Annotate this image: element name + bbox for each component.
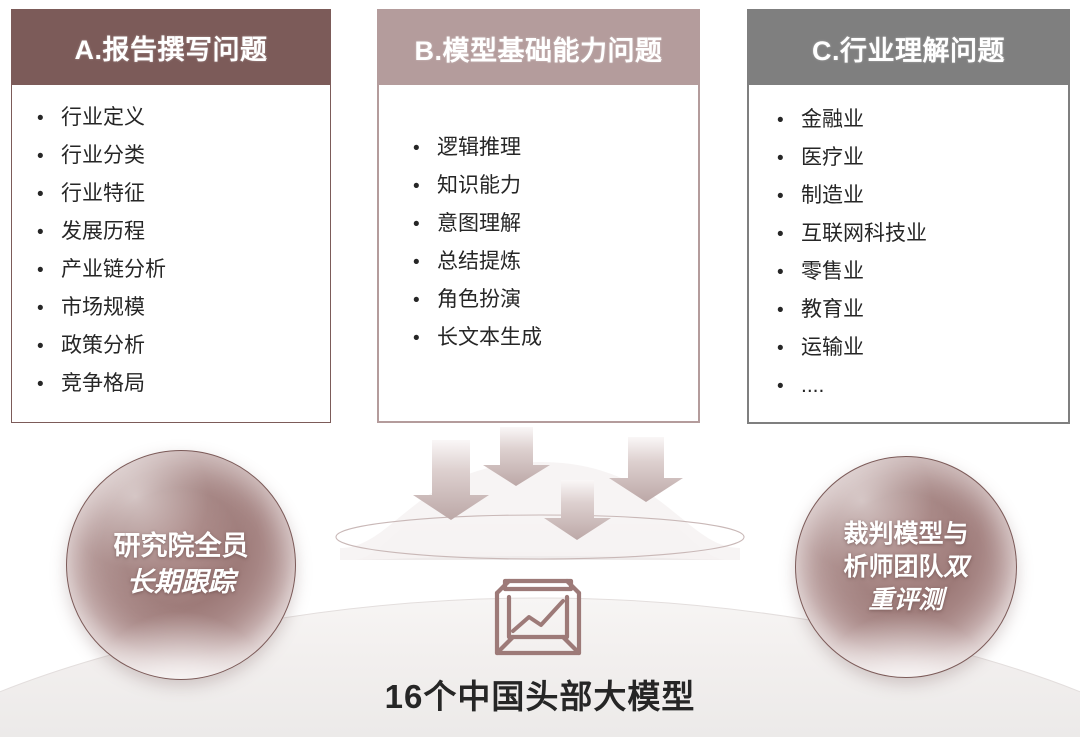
- bullet-icon: •: [413, 320, 437, 358]
- bullet-icon: •: [777, 292, 801, 330]
- sphere-right-line3: 重评测: [868, 584, 943, 617]
- category-b-body: •逻辑推理 •知识能力 •意图理解 •总结提炼 •角色扮演 •长文本生成: [379, 85, 698, 421]
- bullet-icon: •: [37, 176, 61, 214]
- bullet-icon: •: [37, 214, 61, 252]
- list-item[interactable]: •制造业: [777, 177, 1068, 215]
- category-c-header: C.行业理解问题: [749, 11, 1068, 85]
- list-item[interactable]: •知识能力: [413, 167, 698, 205]
- bullet-icon: •: [777, 102, 801, 140]
- funnel-rim-fill: [336, 515, 744, 559]
- list-item[interactable]: •运输业: [777, 329, 1068, 367]
- list-item[interactable]: •....: [777, 367, 1068, 405]
- sphere-right-line2-b: 双: [944, 553, 969, 581]
- list-item[interactable]: •市场规模: [37, 289, 330, 327]
- list-item[interactable]: •医疗业: [777, 139, 1068, 177]
- funnel-arrow-1: [413, 440, 489, 520]
- list-item[interactable]: •互联网科技业: [777, 215, 1068, 253]
- bullet-icon: •: [413, 130, 437, 168]
- bullet-icon: •: [37, 252, 61, 290]
- list-item[interactable]: •行业分类: [37, 137, 330, 175]
- sphere-right-line2-a: 析师团队: [843, 553, 943, 581]
- list-item[interactable]: •长文本生成: [413, 319, 698, 357]
- category-c-body: •金融业 •医疗业 •制造业 •互联网科技业 •零售业 •教育业 •运输业 •.…: [749, 85, 1068, 422]
- sphere-left-research-team[interactable]: 研究院全员 长期跟踪: [66, 450, 296, 680]
- bullet-icon: •: [777, 216, 801, 254]
- bullet-icon: •: [777, 178, 801, 216]
- category-a-list: •行业定义 •行业分类 •行业特征 •发展历程 •产业链分析 •市场规模 •政策…: [37, 99, 330, 403]
- list-item[interactable]: •零售业: [777, 253, 1068, 291]
- bullet-icon: •: [37, 328, 61, 366]
- list-item[interactable]: •总结提炼: [413, 243, 698, 281]
- bullet-icon: •: [37, 100, 61, 138]
- bullet-icon: •: [413, 282, 437, 320]
- funnel-arrow-2: [483, 427, 550, 486]
- bullet-icon: •: [777, 368, 801, 406]
- list-item[interactable]: •竞争格局: [37, 365, 330, 403]
- list-item[interactable]: •政策分析: [37, 327, 330, 365]
- category-a-header: A.报告撰写问题: [12, 10, 330, 84]
- sphere-right-line1: 裁判模型与: [843, 518, 968, 551]
- category-b-header: B.模型基础能力问题: [379, 11, 698, 85]
- bullet-icon: •: [777, 140, 801, 178]
- funnel-arrow-4: [609, 437, 683, 502]
- funnel-arrow-3: [544, 480, 611, 540]
- funnel-mound-skirt: [340, 462, 740, 560]
- list-item[interactable]: •教育业: [777, 291, 1068, 329]
- bullet-icon: •: [777, 254, 801, 292]
- list-item[interactable]: •逻辑推理: [413, 129, 698, 167]
- chart-line: [513, 601, 563, 631]
- bullet-icon: •: [413, 206, 437, 244]
- list-item[interactable]: •产业链分析: [37, 251, 330, 289]
- category-c-list: •金融业 •医疗业 •制造业 •互联网科技业 •零售业 •教育业 •运输业 •.…: [777, 101, 1068, 405]
- bullet-icon: •: [777, 330, 801, 368]
- list-item[interactable]: •意图理解: [413, 205, 698, 243]
- list-item[interactable]: •角色扮演: [413, 281, 698, 319]
- list-item[interactable]: •行业特征: [37, 175, 330, 213]
- bullet-icon: •: [37, 366, 61, 404]
- list-item[interactable]: •发展历程: [37, 213, 330, 251]
- bullet-icon: •: [413, 244, 437, 282]
- category-a-body: •行业定义 •行业分类 •行业特征 •发展历程 •产业链分析 •市场规模 •政策…: [12, 84, 330, 422]
- bottom-caption: 16个中国头部大模型: [0, 670, 1080, 718]
- category-box-c[interactable]: C.行业理解问题 •金融业 •医疗业 •制造业 •互联网科技业 •零售业 •教育…: [747, 9, 1070, 424]
- category-box-a[interactable]: A.报告撰写问题 •行业定义 •行业分类 •行业特征 •发展历程 •产业链分析 …: [11, 9, 331, 423]
- category-b-list: •逻辑推理 •知识能力 •意图理解 •总结提炼 •角色扮演 •长文本生成: [413, 129, 698, 357]
- list-item[interactable]: •行业定义: [37, 99, 330, 137]
- box-chart-icon: [483, 563, 593, 663]
- funnel-rim-ellipse: [336, 515, 744, 559]
- bullet-icon: •: [413, 168, 437, 206]
- category-box-b[interactable]: B.模型基础能力问题 •逻辑推理 •知识能力 •意图理解 •总结提炼 •角色扮演…: [377, 9, 700, 423]
- sphere-left-line2: 长期跟踪: [127, 565, 235, 601]
- list-item[interactable]: •金融业: [777, 101, 1068, 139]
- sphere-left-line1: 研究院全员: [114, 529, 249, 565]
- bullet-icon: •: [37, 138, 61, 176]
- diagram-canvas: A.报告撰写问题 •行业定义 •行业分类 •行业特征 •发展历程 •产业链分析 …: [0, 0, 1080, 737]
- bullet-icon: •: [37, 290, 61, 328]
- funnel-mound: [352, 470, 728, 560]
- sphere-right-line2: 析师团队双: [843, 551, 968, 584]
- sphere-right-judge-model[interactable]: 裁判模型与 析师团队双 重评测: [795, 456, 1017, 678]
